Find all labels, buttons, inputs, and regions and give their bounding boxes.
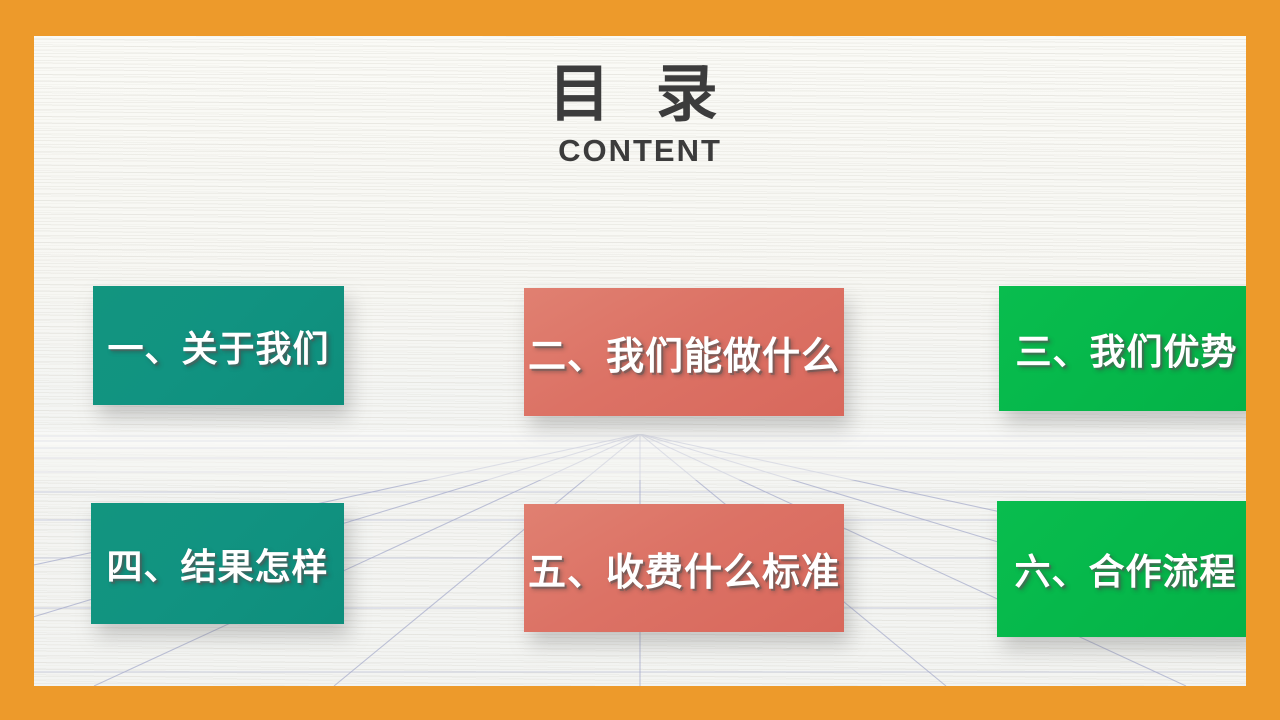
chapter-card-3[interactable]: 三、我们优势 bbox=[999, 286, 1246, 411]
slide-frame: 目 录 CONTENT 一、关于我们 二、我们能做什么 三、我们优势 四、结果怎… bbox=[0, 0, 1280, 720]
title-block: 目 录 CONTENT bbox=[34, 62, 1246, 169]
chapter-card-4[interactable]: 四、结果怎样 bbox=[91, 503, 344, 624]
chapter-card-2[interactable]: 二、我们能做什么 bbox=[524, 288, 844, 416]
chapter-card-6[interactable]: 六、合作流程 bbox=[997, 501, 1246, 637]
slide-canvas: 目 录 CONTENT 一、关于我们 二、我们能做什么 三、我们优势 四、结果怎… bbox=[34, 36, 1246, 686]
page-title: 目 录 bbox=[34, 62, 1246, 127]
chapter-card-5[interactable]: 五、收费什么标准 bbox=[524, 504, 844, 632]
chapter-card-1[interactable]: 一、关于我们 bbox=[93, 286, 344, 405]
chapter-card-2-label: 二、我们能做什么 bbox=[524, 325, 844, 380]
horizon-glow bbox=[34, 426, 1246, 456]
chapter-card-3-label: 三、我们优势 bbox=[999, 323, 1246, 375]
chapter-card-5-label: 五、收费什么标准 bbox=[524, 541, 844, 596]
chapter-card-1-label: 一、关于我们 bbox=[93, 320, 344, 372]
chapter-card-6-label: 六、合作流程 bbox=[997, 543, 1246, 595]
page-subtitle: CONTENT bbox=[34, 133, 1246, 169]
chapter-card-4-label: 四、结果怎样 bbox=[91, 538, 344, 590]
